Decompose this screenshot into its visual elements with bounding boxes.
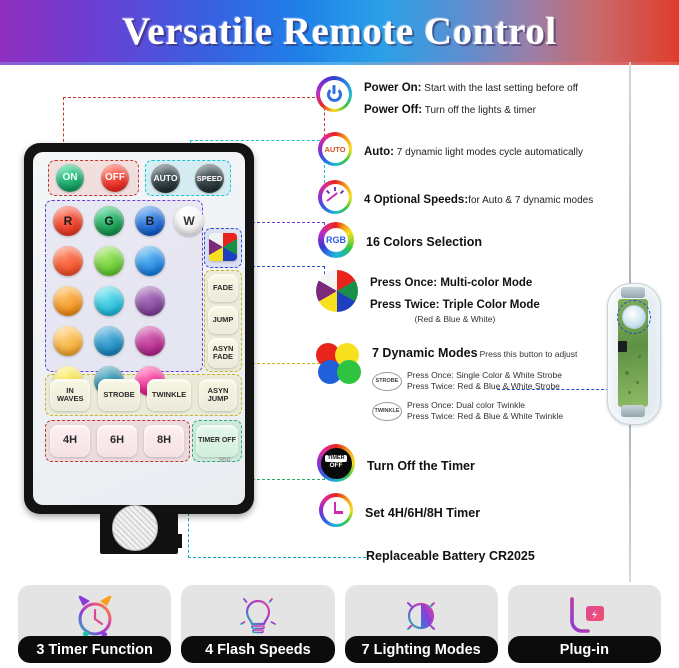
legend-text-timer-off: Turn Off the Timer [367,455,475,477]
timer-off-label: Turn Off the Timer [367,459,475,473]
legend-text-auto: Auto: 7 dynamic light modes cycle automa… [364,140,583,162]
card-label-speeds: 4 Flash Speeds [205,642,311,658]
remote-button-asyn-jump[interactable]: ASYN JUMP [199,379,237,411]
card-plug-in[interactable]: Plug-in [508,585,661,663]
header-banner: Versatile Remote Control [0,0,679,62]
speeds-label: 4 Optional Speeds: [364,194,468,206]
legend-list: Power On: Start with the last setting be… [316,70,679,575]
battery-tab [170,534,182,548]
press-once-desc: Multi-color Mode [437,277,532,289]
legend-item-multicolor: Press Once: Multi-color Mode Press Twice… [316,270,540,326]
remote-button-asyn-fade[interactable]: ASYN FADE [208,338,238,368]
remote-color-purple[interactable] [135,286,165,316]
clock-l-icon [319,493,353,527]
card-label-bar: 4 Flash Speeds [181,636,334,663]
remote-color-orange-red[interactable] [53,246,83,276]
remote-button-white[interactable]: W [174,206,204,236]
set-timer-label: Set 4H/6H/8H Timer [365,506,480,520]
coin-battery [112,505,158,551]
battery-note-label: Replaceable Battery CR2025 [366,549,535,563]
power-off-desc: Turn off the lights & timer [422,105,536,116]
power-on-desc: Start with the last setting before off [422,83,579,94]
card-lighting-modes[interactable]: 7 Lighting Modes [345,585,498,663]
receiver-callout-label: Press this button to adjust [480,349,578,360]
timer-badge-top: TIMER [325,455,346,462]
strobe-line1: Press Once: Single Color & White Strobe [407,370,562,381]
connector-colors [252,222,325,240]
remote-button-speed[interactable]: SPEED [195,164,224,193]
header-divider [0,62,679,65]
dynamic-modes-label: 7 Dynamic Modes [372,345,478,362]
asyn-fade-label: ASYN FADE [210,345,236,360]
remote-face: ON OFF AUTO SPEED R G B W [33,152,245,505]
legend-text-colors: 16 Colors Selection [366,231,482,253]
in-waves-label: IN WAVES [57,387,83,402]
speeds-desc: for Auto & 7 dynamic modes [468,195,593,206]
legend-text-power: Power On: Start with the last setting be… [364,76,578,119]
twinkle-badge: TWINKLE [372,402,402,421]
card-label-bar: 7 Lighting Modes [345,636,498,663]
remote-button-in-waves[interactable]: IN WAVES [50,379,90,411]
remote-button-8h[interactable]: 8H [144,425,184,457]
remote-button-red[interactable]: R [53,206,83,236]
speed-gauge-icon [318,180,352,214]
timer-badge-bottom: OFF [330,462,343,470]
remote-color-light-green[interactable] [94,246,124,276]
remote-button-fade[interactable]: FADE [208,274,238,302]
remote-button-off[interactable]: OFF [101,164,129,192]
remote-button-blue[interactable]: B [135,206,165,236]
color-pie-icon [316,270,358,312]
press-twice-desc: Triple Color Mode [439,299,539,311]
rgb-wheel-icon: RGB [318,222,354,258]
feature-cards: 3 Timer Function [18,585,661,663]
remote-button-jump[interactable]: JUMP [208,306,238,334]
power-off-label: Power Off: [364,104,422,116]
remote-button-4h[interactable]: 4H [50,425,90,457]
connector-dynamic [252,363,325,379]
timer-off-icon: TIMER OFF [317,444,355,482]
legend-item-timer-off: TIMER OFF Turn Off the Timer [317,444,475,482]
strobe-line2: Press Twice: Red & Blue & White Strobe [407,381,562,392]
page-title: Versatile Remote Control [122,9,556,54]
card-label-plug: Plug-in [560,642,609,658]
remote-button-green[interactable]: G [94,206,124,236]
card-label-modes: 7 Lighting Modes [362,642,481,658]
auto-desc: 7 dynamic light modes cycle automaticall… [394,147,583,158]
twinkle-line2: Press Twice: Red & Blue & White Twinkle [407,411,563,422]
strobe-badge: STROBE [372,372,402,391]
card-timer-function[interactable]: 3 Timer Function [18,585,171,663]
legend-text-speeds: 4 Optional Speeds:for Auto & 7 dynamic m… [364,188,593,210]
power-on-label: Power On: [364,82,422,94]
remote-control: ON OFF AUTO SPEED R G B W [24,143,254,514]
power-icon [316,76,352,112]
auto-label: Auto: [364,146,394,158]
press-twice-label: Press Twice: [370,299,439,311]
infographic-root: Versatile Remote Control ON OFF AUTO SPE… [0,0,679,668]
legend-item-auto: AUTO Auto: 7 dynamic light modes cycle a… [318,132,583,166]
remote-button-auto[interactable]: AUTO [151,164,180,193]
legend-item-battery: Replaceable Battery CR2025 [366,549,535,563]
legend-item-speeds: 4 Optional Speeds:for Auto & 7 dynamic m… [318,180,593,214]
remote-button-6h[interactable]: 6H [97,425,137,457]
legend-text-dynamic: 7 Dynamic Modes Press this button to adj… [372,345,577,423]
remote-button-twinkle[interactable]: TWINKLE [147,379,191,411]
connector-timeroff [252,460,325,480]
remote-color-magenta[interactable] [135,326,165,356]
legend-text-set-timer: Set 4H/6H/8H Timer [365,502,480,524]
auto-icon: AUTO [318,132,352,166]
multicolor-sub: (Red & Blue & White) [370,314,540,325]
colors-label: 16 Colors Selection [366,235,482,249]
card-flash-speeds[interactable]: 4 Flash Speeds [181,585,334,663]
remote-button-multicolor[interactable] [209,233,237,261]
legend-item-dynamic: 7 Dynamic Modes Press this button to adj… [316,343,577,423]
remote-color-amber[interactable] [53,326,83,356]
remote-button-timer-off[interactable]: TIMER OFF [196,425,238,457]
card-label-bar: Plug-in [508,636,661,663]
remote-color-orange[interactable] [53,286,83,316]
asyn-jump-label: ASYN JUMP [205,387,231,402]
remote-color-steel-blue[interactable] [94,326,124,356]
remote-button-on[interactable]: ON [56,164,84,192]
remote-model-code: 950 [219,457,231,464]
remote-color-azure[interactable] [135,246,165,276]
card-label-bar: 3 Timer Function [18,636,171,663]
twinkle-line1: Press Once: Dual color Twinkle [407,400,563,411]
rgb-badge-label: RGB [326,235,346,245]
connector-multicolor [252,266,325,296]
remote-color-cyan[interactable] [94,286,124,316]
auto-badge-label: AUTO [322,136,349,163]
legend-item-power: Power On: Start with the last setting be… [316,76,578,119]
four-dots-icon [316,343,360,385]
press-once-label: Press Once: [370,277,437,289]
legend-item-set-timer: Set 4H/6H/8H Timer [319,493,480,527]
remote-button-strobe[interactable]: STROBE [98,379,140,411]
legend-item-colors: RGB 16 Colors Selection [318,222,482,258]
card-label-timer: 3 Timer Function [36,642,153,658]
legend-text-multicolor: Press Once: Multi-color Mode Press Twice… [370,271,540,326]
